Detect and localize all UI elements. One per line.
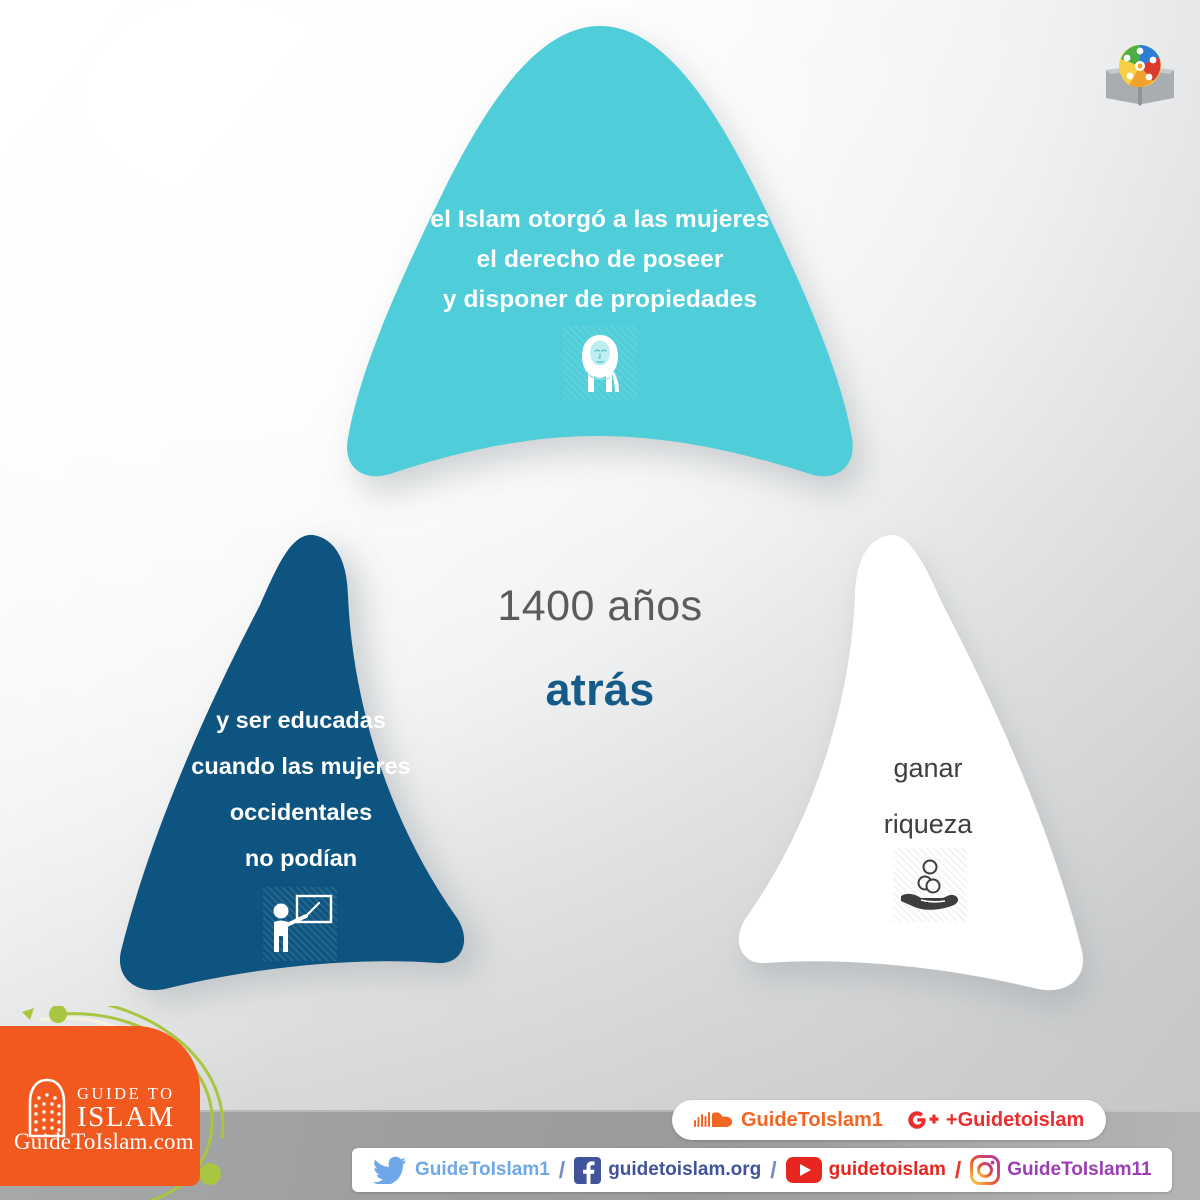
brand-wordmark: GUIDE TO ISLAM	[77, 1086, 175, 1133]
twitter-label: GuideToIslam1	[415, 1159, 550, 1181]
googleplus-label: +Guidetoislam	[946, 1109, 1084, 1132]
facebook-label: guidetoislam.org	[608, 1159, 761, 1181]
panel-property-rights[interactable]: el Islam otorgó a las mujeres el derecho…	[330, 18, 870, 488]
instagram-label: GuideToIslam11	[1007, 1159, 1151, 1181]
instagram-icon	[970, 1155, 1000, 1185]
soundcloud-label: GuideToIslam1	[741, 1109, 883, 1132]
social-link-facebook[interactable]: guidetoislam.org	[574, 1157, 761, 1184]
brand-islam-text: ISLAM	[77, 1103, 175, 1132]
center-back-text: atrás	[400, 660, 800, 720]
brand-badge[interactable]: GUIDE TO ISLAM GuideToIslam.com	[0, 1026, 200, 1186]
brand-url-text[interactable]: GuideToIslam.com	[14, 1129, 194, 1155]
social-link-instagram[interactable]: GuideToIslam11	[970, 1155, 1151, 1185]
separator-2: /	[768, 1157, 778, 1184]
separator-1: /	[557, 1157, 567, 1184]
book-globe-logo[interactable]	[1100, 40, 1180, 112]
twitter-icon	[372, 1156, 408, 1184]
infographic-canvas: el Islam otorgó a las mujeres el derecho…	[0, 0, 1200, 1200]
youtube-label: guidetoislam	[829, 1159, 946, 1181]
brand-guide-text: GUIDE TO	[77, 1086, 175, 1103]
social-pill-top[interactable]: GuideToIslam1 +Guidetoislam	[672, 1100, 1106, 1140]
social-pill-bottom[interactable]: GuideToIslam1 / guidetoislam.org / guide…	[352, 1148, 1172, 1192]
youtube-icon	[786, 1157, 822, 1183]
social-link-twitter[interactable]: GuideToIslam1	[372, 1156, 550, 1184]
center-years-text: 1400 años	[400, 578, 800, 634]
googleplus-icon	[905, 1108, 939, 1132]
separator-3: /	[953, 1157, 963, 1184]
social-link-googleplus[interactable]: +Guidetoislam	[905, 1108, 1084, 1132]
soundcloud-icon	[694, 1109, 734, 1131]
social-link-youtube[interactable]: guidetoislam	[786, 1157, 946, 1183]
social-link-soundcloud[interactable]: GuideToIslam1	[694, 1109, 883, 1132]
center-headline: 1400 años atrás	[400, 578, 800, 720]
facebook-icon	[574, 1157, 601, 1184]
